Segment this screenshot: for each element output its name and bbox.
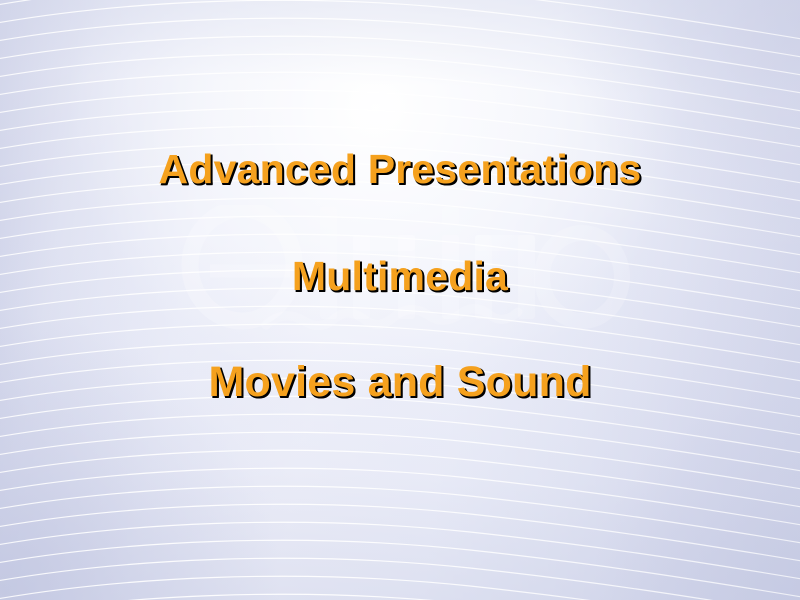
slide-background-corner-shading (0, 0, 800, 600)
presentation-slide: Advanced Presentations Multimedia Movies… (0, 0, 800, 600)
